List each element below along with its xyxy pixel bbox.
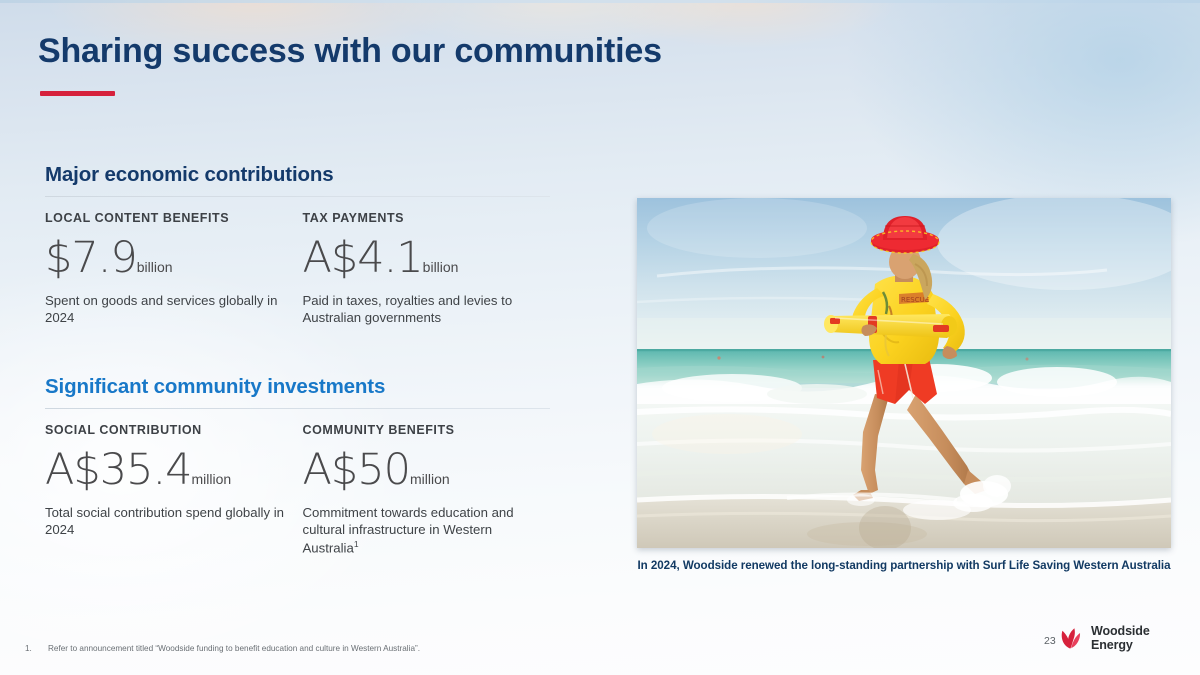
logo-line-1: Woodside bbox=[1091, 624, 1150, 638]
metric-label: COMMUNITY BENEFITS bbox=[303, 423, 543, 437]
section-divider bbox=[45, 196, 550, 197]
metric-tax-payments: TAX PAYMENTS A$4.1billion Paid in taxes,… bbox=[303, 211, 561, 327]
metric-community-benefits: COMMUNITY BENEFITS A$50million Commitmen… bbox=[303, 423, 561, 557]
woodside-energy-logo: Woodside Energy bbox=[1058, 624, 1150, 652]
top-accent-band bbox=[0, 0, 1200, 3]
section-major-economic-contributions: Major economic contributions LOCAL CONTE… bbox=[45, 163, 560, 327]
metrics-row: SOCIAL CONTRIBUTION A$35.4million Total … bbox=[45, 423, 560, 557]
section-heading: Major economic contributions bbox=[45, 163, 560, 187]
metric-label: LOCAL CONTENT BENEFITS bbox=[45, 211, 285, 225]
title-accent-rule bbox=[40, 91, 115, 96]
metric-description: Commitment towards education and cultura… bbox=[303, 504, 543, 557]
metric-unit: million bbox=[192, 471, 232, 487]
metric-social-contribution: SOCIAL CONTRIBUTION A$35.4million Total … bbox=[45, 423, 303, 557]
slide-root: Sharing success with our communities Maj… bbox=[0, 0, 1200, 675]
metric-label: TAX PAYMENTS bbox=[303, 211, 543, 225]
woodside-flower-icon bbox=[1058, 625, 1084, 651]
metric-description: Spent on goods and services globally in … bbox=[45, 292, 285, 327]
metric-local-content-benefits: LOCAL CONTENT BENEFITS $7.9billion Spent… bbox=[45, 211, 303, 327]
metric-value: $7.9billion bbox=[45, 237, 285, 280]
section-divider bbox=[45, 408, 550, 409]
metric-label: SOCIAL CONTRIBUTION bbox=[45, 423, 285, 437]
footnote-marker: 1 bbox=[354, 539, 359, 549]
photo-surf-lifesaver: RESCUE bbox=[637, 198, 1171, 548]
photo-caption: In 2024, Woodside renewed the long-stand… bbox=[637, 559, 1171, 572]
metric-description-text: Commitment towards education and cultura… bbox=[303, 505, 514, 555]
footnote-text: Refer to announcement titled “Woodside f… bbox=[48, 644, 420, 653]
page-number: 23 bbox=[1044, 635, 1056, 647]
metric-number: A$50 bbox=[303, 445, 411, 495]
section-heading: Significant community investments bbox=[45, 375, 560, 399]
metric-value: A$35.4million bbox=[45, 449, 285, 492]
photo-illustration: RESCUE bbox=[637, 198, 1171, 548]
metric-unit: billion bbox=[423, 259, 459, 275]
metric-description: Total social contribution spend globally… bbox=[45, 504, 285, 539]
page-title: Sharing success with our communities bbox=[38, 32, 662, 71]
metric-value: A$4.1billion bbox=[303, 237, 543, 280]
metric-unit: billion bbox=[137, 259, 173, 275]
metric-number: $7.9 bbox=[45, 233, 137, 283]
logo-line-2: Energy bbox=[1091, 638, 1150, 652]
metric-number: A$4.1 bbox=[303, 233, 423, 283]
metric-unit: million bbox=[410, 471, 450, 487]
section-significant-community-investments: Significant community investments SOCIAL… bbox=[45, 375, 560, 557]
metric-description: Paid in taxes, royalties and levies to A… bbox=[303, 292, 543, 327]
metric-number: A$35.4 bbox=[45, 445, 192, 495]
metric-value: A$50million bbox=[303, 449, 543, 492]
logo-wordmark: Woodside Energy bbox=[1091, 624, 1150, 652]
footnote-number: 1. bbox=[25, 644, 32, 653]
metrics-row: LOCAL CONTENT BENEFITS $7.9billion Spent… bbox=[45, 211, 560, 327]
